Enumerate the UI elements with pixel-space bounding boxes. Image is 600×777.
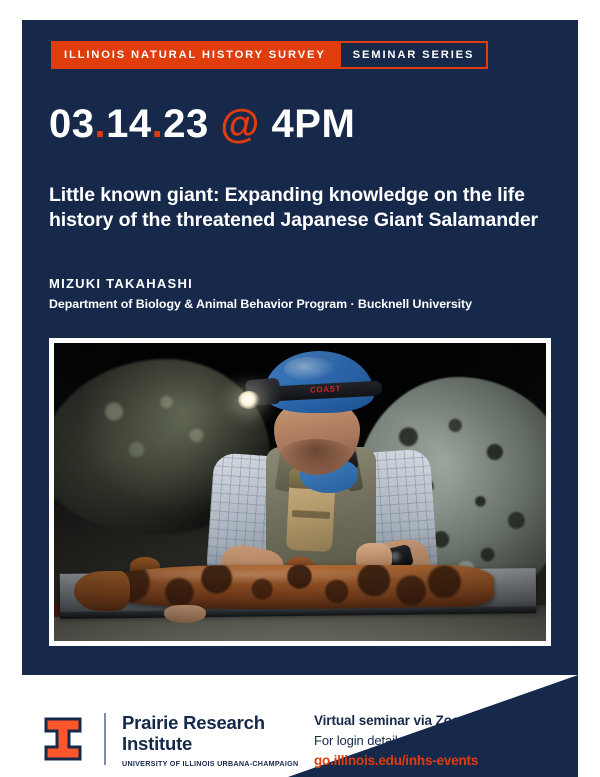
zoom-heading: Virtual seminar via Zoom [314,713,472,728]
photo-frame: COAST [49,338,551,646]
event-datetime: 03.14.23 @ 4PM [49,102,355,147]
date-separator-2: . [152,102,164,146]
institute-line-2: Institute [122,734,265,755]
speaker-affiliation: Department of Biology & Animal Behavior … [49,297,472,311]
illinois-block-i-logo [44,717,82,761]
headlamp-lens [238,391,260,409]
poster-footer: Prairie Research Institute UNIVERSITY OF… [22,675,578,777]
prairie-research-institute-name: Prairie Research Institute [122,713,265,755]
headlamp-brand-label: COAST [310,384,341,395]
banner-series-block: SEMINAR SERIES [339,41,489,69]
speaker-name: MIZUKI TAKAHASHI [49,276,193,291]
date-year: 23 [163,102,209,146]
zoom-registration-link[interactable]: go.illinois.edu/inhs-events [314,753,478,768]
poster-page: ILLINOIS NATURAL HISTORY SURVEY SEMINAR … [0,0,600,777]
japanese-giant-salamander [80,565,494,609]
seminar-photo: COAST [54,343,546,641]
date-month: 03 [49,102,95,146]
face-shadow [278,439,354,475]
talk-title: Little known giant: Expanding knowledge … [49,183,559,234]
cap-highlight [284,357,336,381]
institute-line-1: Prairie Research [122,713,265,734]
banner-org-block: ILLINOIS NATURAL HISTORY SURVEY [51,41,339,69]
salamander-head [74,571,130,611]
logo-divider [104,713,106,765]
banner-series-label: SEMINAR SERIES [353,49,475,61]
banner-org-label: ILLINOIS NATURAL HISTORY SURVEY [64,49,326,61]
date-separator-1: . [95,102,107,146]
researcher-figure: COAST [204,351,439,591]
header-banner: ILLINOIS NATURAL HISTORY SURVEY SEMINAR … [51,41,488,69]
zoom-instructions: For login details, visit: [314,733,437,748]
at-symbol: @ [220,102,260,146]
event-time: 4PM [272,102,356,146]
university-name: UNIVERSITY OF ILLINOIS URBANA-CHAMPAIGN [122,759,298,768]
researcher-hand-left [164,605,206,623]
poster-body: ILLINOIS NATURAL HISTORY SURVEY SEMINAR … [22,20,578,777]
date-day: 14 [106,102,152,146]
